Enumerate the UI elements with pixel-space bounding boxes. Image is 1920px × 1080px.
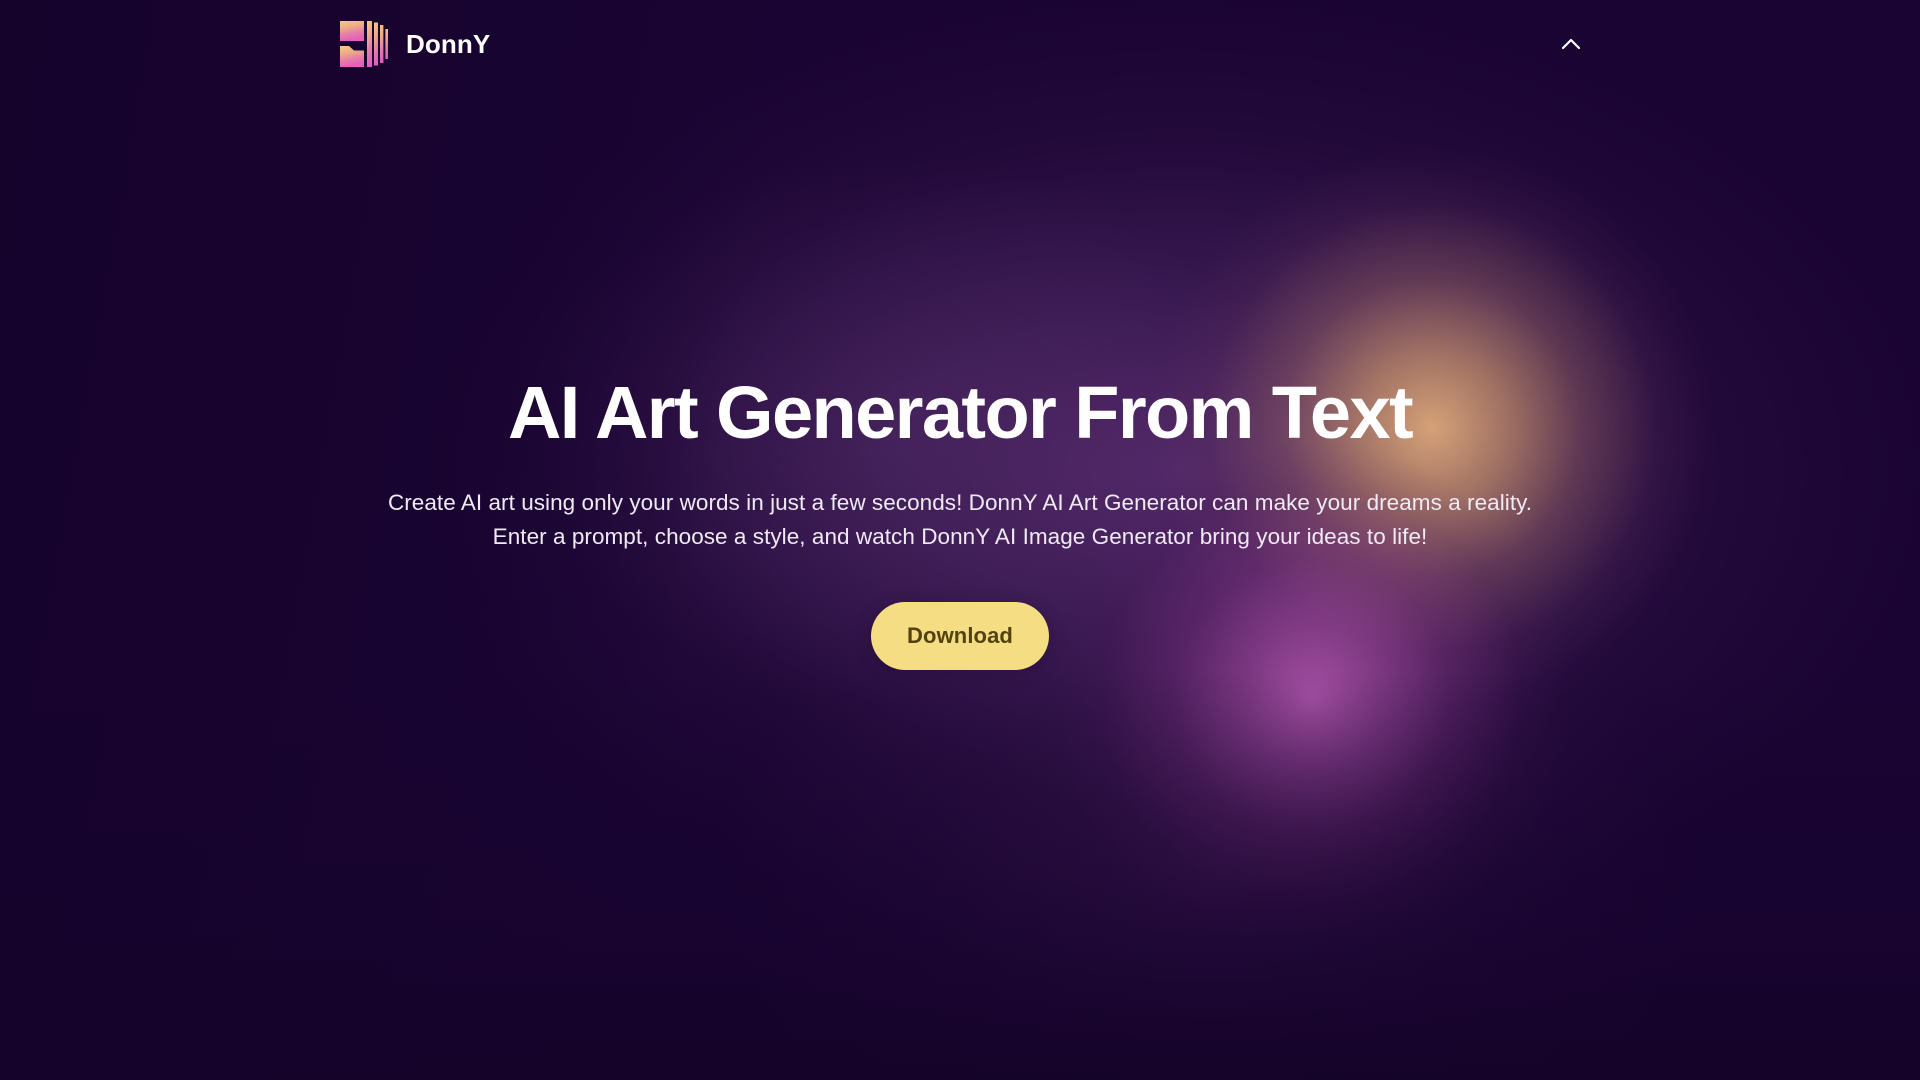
chevron-up-icon (1556, 29, 1586, 59)
header-collapse-button[interactable] (1548, 21, 1594, 67)
site-header: DonnY (0, 0, 1920, 88)
download-button[interactable]: Download (871, 602, 1049, 670)
page-title: AI Art Generator From Text (508, 374, 1412, 452)
donny-d-bars-logo-icon (338, 18, 392, 70)
hero-subtitle: Create AI art using only your words in j… (370, 486, 1550, 554)
hero-section: AI Art Generator From Text Create AI art… (0, 0, 1920, 1080)
brand-name: DonnY (406, 31, 490, 57)
page-root: DonnY AI Art Generator From Text Create … (0, 0, 1920, 1080)
brand-logo-link[interactable]: DonnY (338, 18, 490, 70)
